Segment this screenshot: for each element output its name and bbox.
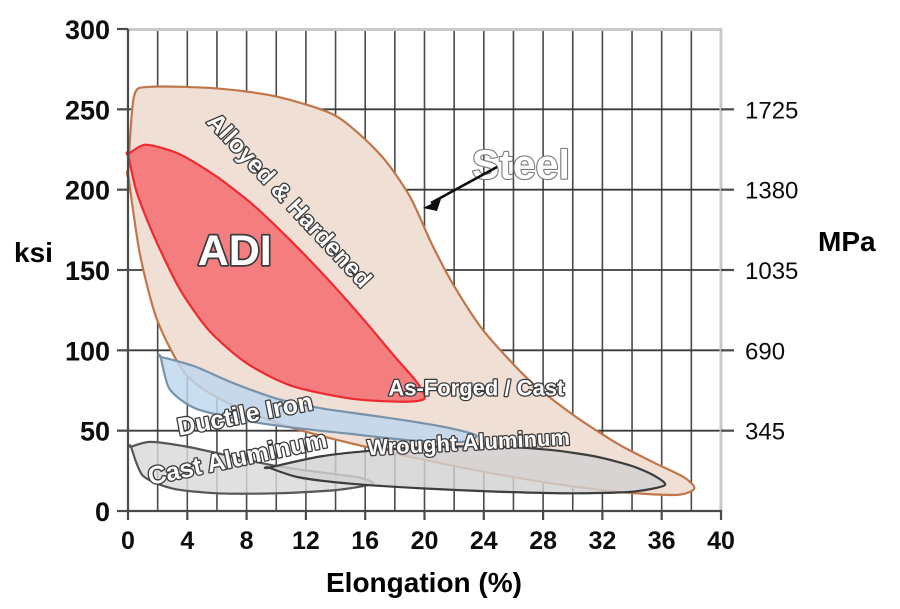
y-axis-right-tick-label: 1725 [745, 97, 798, 124]
y-axis-left-tick-label: 100 [65, 336, 110, 366]
y-axis-right-tick-label: 1035 [745, 258, 798, 285]
y-axis-left-tick-label: 0 [95, 497, 110, 527]
x-axis-tick-label: 12 [292, 527, 320, 555]
y-axis-left-tick-label: 300 [65, 15, 110, 45]
y-axis-right-tick-label: 690 [745, 338, 785, 365]
y-axis-left-tick-label: 50 [80, 417, 110, 447]
y-axis-left-tick-label: 250 [65, 95, 110, 125]
x-axis-tick-label: 40 [707, 527, 735, 555]
label-adi: ADI [198, 227, 272, 275]
x-axis-tick-label: 0 [121, 527, 135, 555]
y-axis-left-tick-label: 200 [65, 176, 110, 206]
x-axis-tick-label: 36 [648, 527, 676, 555]
x-axis-tick-label: 20 [411, 527, 439, 555]
x-axis-title: Elongation (%) [326, 567, 522, 598]
label-as-forged-cast: As-Forged / Cast [388, 375, 565, 400]
x-axis-tick-label: 4 [180, 527, 194, 555]
materials-properties-chart: 300250200150100500 172513801035690345 04… [0, 0, 900, 609]
label-steel: Steel [472, 141, 570, 187]
x-axis-tick-label: 28 [529, 527, 557, 555]
y-axis-left-tick-label: 150 [65, 256, 110, 286]
y-axis-right-tick-label: 1380 [745, 178, 798, 205]
x-axis-tick-label: 24 [470, 527, 498, 555]
x-axis-tick-label: 32 [588, 527, 616, 555]
x-axis-tick-label: 8 [240, 527, 254, 555]
chart-canvas: 300250200150100500 172513801035690345 04… [0, 0, 900, 609]
y-axis-right-title: MPa [818, 226, 876, 257]
y-axis-left-title: ksi [14, 237, 53, 268]
y-axis-right-tick-label: 345 [745, 419, 785, 446]
x-axis-tick-label: 16 [351, 527, 379, 555]
